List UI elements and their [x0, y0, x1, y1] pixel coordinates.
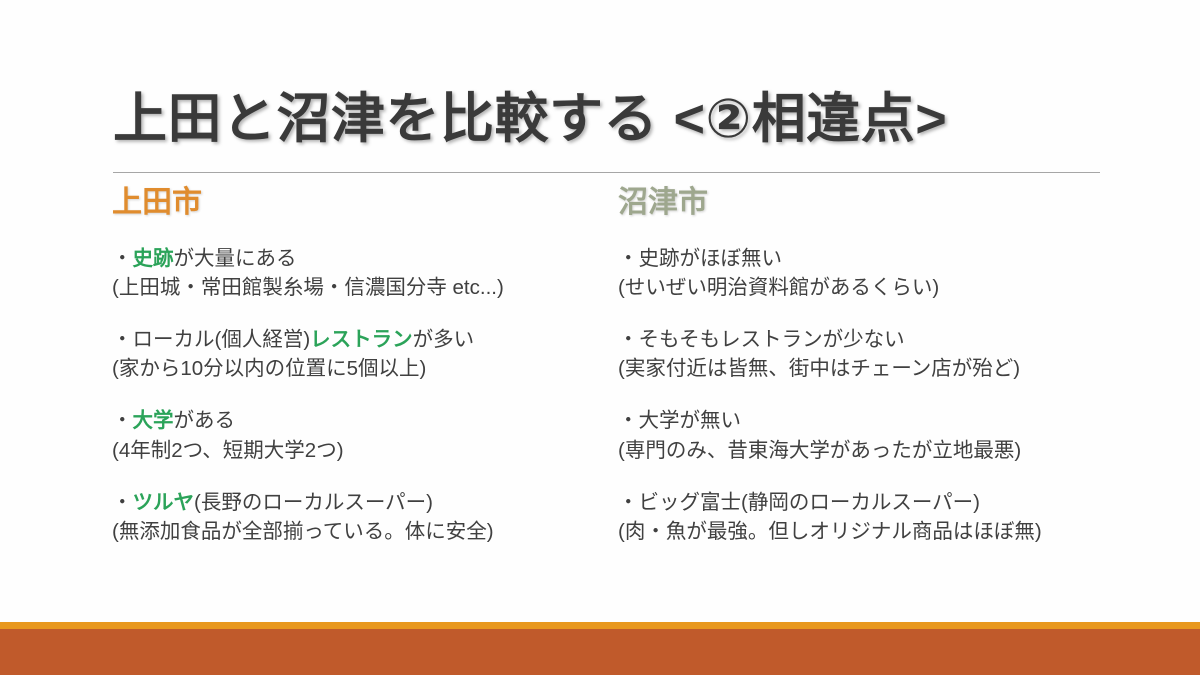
bullet-line-detail: (肉・魚が最強。但しオリジナル商品はほぼ無) — [618, 517, 1118, 546]
bullet-text-post: (長野のローカルスーパー) — [194, 491, 433, 514]
bullet-line-primary: ・そもそもレストランが少ない — [618, 325, 1118, 354]
bullet-line-detail: (実家付近は皆無、街中はチェーン店が殆ど) — [618, 354, 1118, 383]
bullet-text-post: がある — [174, 409, 236, 432]
bullet-line-detail: (専門のみ、昔東海大学があったが立地最悪) — [618, 436, 1118, 465]
bullet-list-numazu: ・史跡がほぼ無い (せいぜい明治資料館があるくらい) ・そもそもレストランが少な… — [618, 244, 1118, 546]
bullet-text-post: が多い — [413, 328, 475, 351]
bullet-line-detail: (家から10分以内の位置に5個以上) — [112, 354, 612, 383]
comparison-columns: 上田市 ・史跡が大量にある (上田城・常田館製糸場・信濃国分寺 etc...) … — [0, 188, 1200, 578]
bullet-line-primary: ・ビッグ富士(静岡のローカルスーパー) — [618, 488, 1118, 517]
column-heading-numazu: 沼津市 — [618, 188, 1118, 218]
slide-canvas: 上田と沼津を比較する <②相違点> 上田市 ・史跡が大量にある (上田城・常田館… — [0, 0, 1200, 675]
bullet-line-primary: ・史跡がほぼ無い — [618, 244, 1118, 273]
bullet-line-primary: ・ローカル(個人経営)レストランが多い — [112, 325, 612, 354]
bullet-list-ueda: ・史跡が大量にある (上田城・常田館製糸場・信濃国分寺 etc...) ・ローカ… — [112, 244, 612, 546]
bullet-line-primary: ・大学がある — [112, 406, 612, 435]
bullet-text-post: が大量にある — [174, 247, 297, 270]
page-title: 上田と沼津を比較する <②相違点> — [113, 89, 1113, 149]
list-item: ・ローカル(個人経営)レストランが多い (家から10分以内の位置に5個以上) — [112, 325, 612, 383]
list-item: ・大学が無い (専門のみ、昔東海大学があったが立地最悪) — [618, 406, 1118, 464]
bullet-text-pre: ・大学が無い — [618, 409, 741, 432]
bullet-line-primary: ・ツルヤ(長野のローカルスーパー) — [112, 488, 612, 517]
bullet-text-highlight: ツルヤ — [133, 491, 195, 514]
bullet-text-pre: ・史跡がほぼ無い — [618, 247, 782, 270]
bullet-text-pre: ・ — [112, 491, 133, 514]
bullet-text-highlight: 史跡 — [133, 247, 174, 270]
bullet-text-pre: ・そもそもレストランが少ない — [618, 328, 905, 351]
bullet-line-detail: (4年制2つ、短期大学2つ) — [112, 436, 612, 465]
bullet-text-pre: ・ローカル(個人経営) — [112, 328, 310, 351]
bullet-text-highlight: 大学 — [133, 409, 174, 432]
list-item: ・大学がある (4年制2つ、短期大学2つ) — [112, 406, 612, 464]
list-item: ・ビッグ富士(静岡のローカルスーパー) (肉・魚が最強。但しオリジナル商品はほぼ… — [618, 488, 1118, 546]
list-item: ・史跡が大量にある (上田城・常田館製糸場・信濃国分寺 etc...) — [112, 244, 612, 302]
bullet-text-pre: ・ — [112, 409, 133, 432]
footer-accent-stripe-thin — [0, 622, 1200, 629]
footer-accent-bar — [0, 629, 1200, 675]
bullet-text-pre: ・ — [112, 247, 133, 270]
bullet-text-pre: ・ビッグ富士(静岡のローカルスーパー) — [618, 491, 980, 514]
bullet-text-highlight: レストラン — [310, 328, 413, 351]
bullet-line-primary: ・史跡が大量にある — [112, 244, 612, 273]
list-item: ・ツルヤ(長野のローカルスーパー) (無添加食品が全部揃っている。体に安全) — [112, 488, 612, 546]
list-item: ・史跡がほぼ無い (せいぜい明治資料館があるくらい) — [618, 244, 1118, 302]
column-numazu: 沼津市 ・史跡がほぼ無い (せいぜい明治資料館があるくらい) ・そもそもレストラ… — [618, 188, 1118, 546]
bullet-line-detail: (せいぜい明治資料館があるくらい) — [618, 273, 1118, 302]
bullet-line-detail: (無添加食品が全部揃っている。体に安全) — [112, 517, 612, 546]
column-heading-ueda: 上田市 — [112, 188, 612, 218]
column-ueda: 上田市 ・史跡が大量にある (上田城・常田館製糸場・信濃国分寺 etc...) … — [112, 188, 612, 546]
bullet-line-primary: ・大学が無い — [618, 406, 1118, 435]
list-item: ・そもそもレストランが少ない (実家付近は皆無、街中はチェーン店が殆ど) — [618, 325, 1118, 383]
bullet-line-detail: (上田城・常田館製糸場・信濃国分寺 etc...) — [112, 273, 612, 302]
title-divider — [113, 172, 1100, 173]
